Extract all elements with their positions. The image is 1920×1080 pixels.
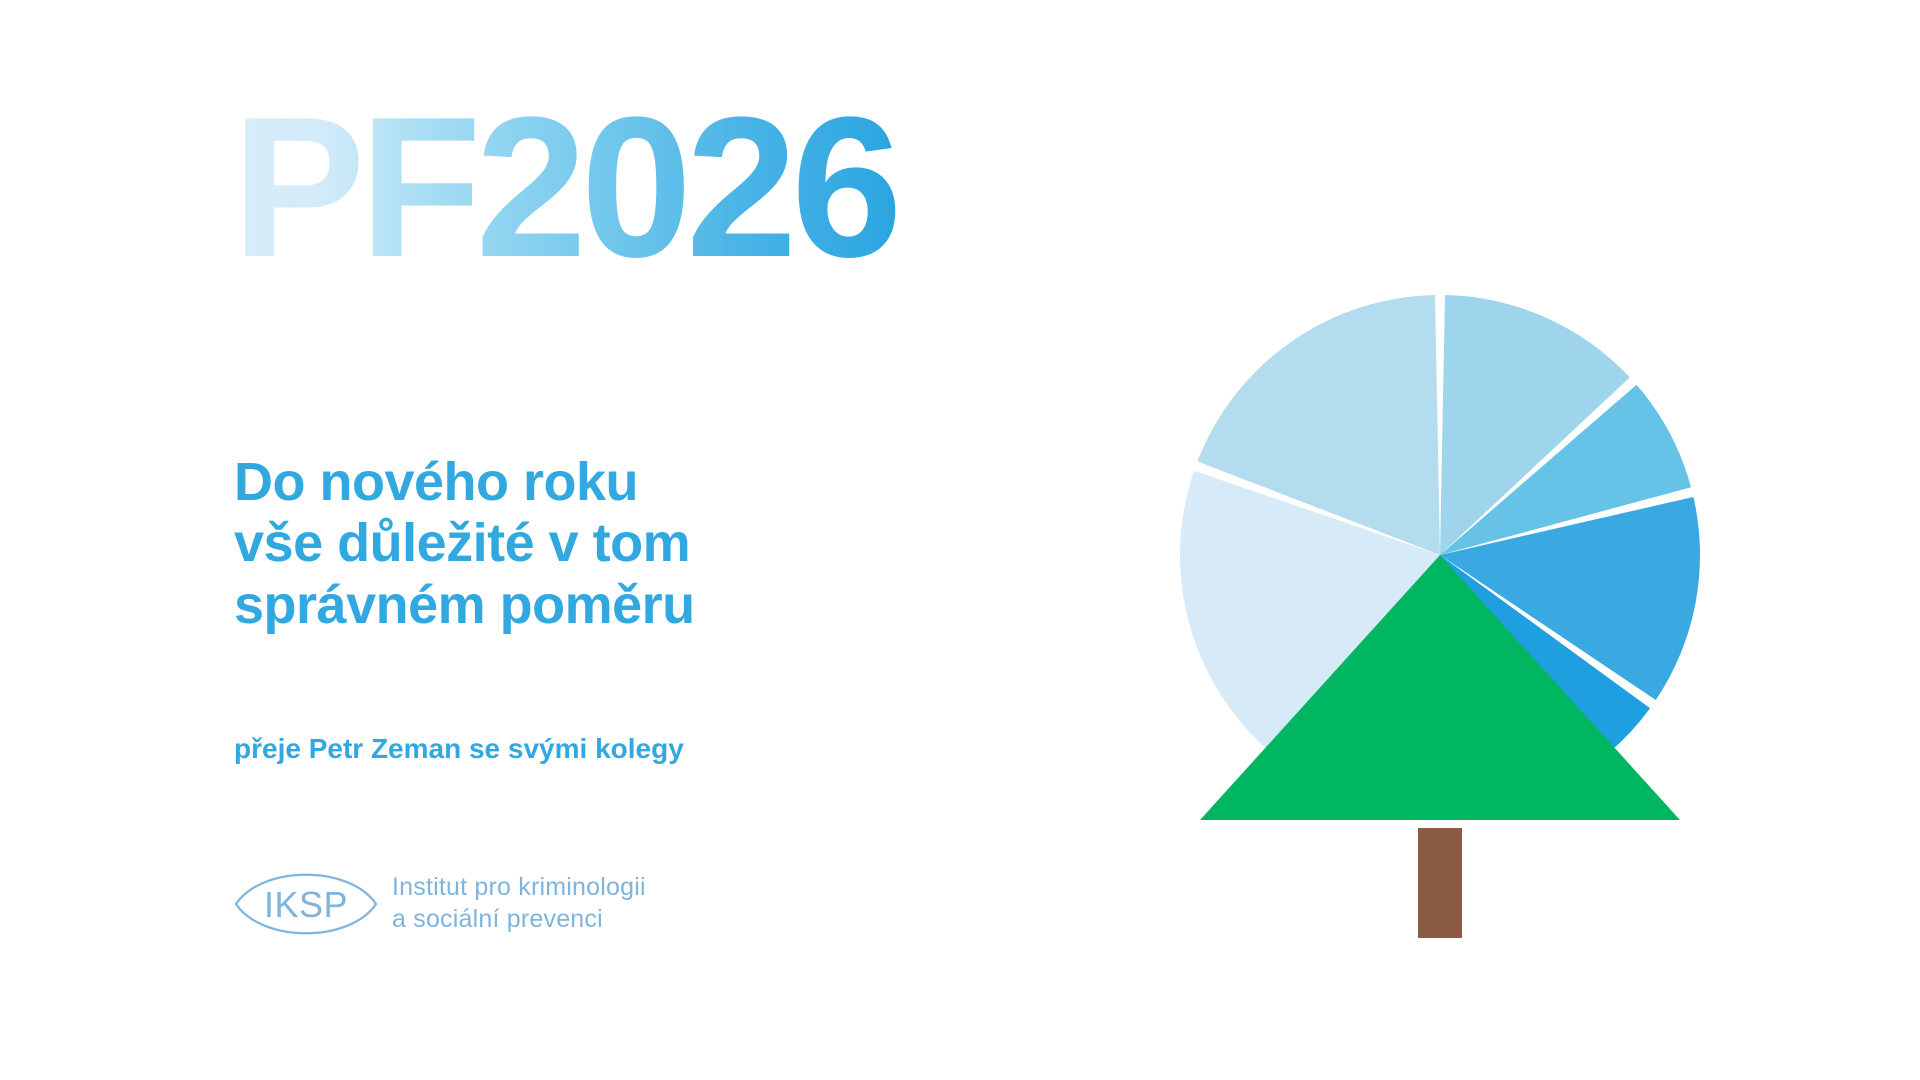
headline-line-3: správném poměru <box>234 575 695 636</box>
iksp-eye-mark: IKSP <box>232 855 380 953</box>
left-content-column: PF2026 Do nového roku vše důležité v tom… <box>232 0 1062 1080</box>
iksp-logo-line-1: Institut pro kriminologii <box>392 871 646 903</box>
tree-trunk-icon <box>1418 828 1462 938</box>
signature-text: přeje Petr Zeman se svými kolegy <box>234 735 684 763</box>
headline-line-1: Do nového roku <box>234 452 695 513</box>
headline-line-2: vše důležité v tom <box>234 513 695 574</box>
iksp-logo-text: Institut pro kriminologii a sociální pre… <box>392 871 646 935</box>
pie-chart-tree <box>1080 200 1800 990</box>
poster-canvas: PF2026 Do nového roku vše důležité v tom… <box>0 0 1920 1080</box>
iksp-logo-line-2: a sociální prevenci <box>392 903 646 935</box>
headline-block: Do nového roku vše důležité v tom správn… <box>234 452 695 636</box>
iksp-logo: IKSP Institut pro kriminologii a sociáln… <box>232 855 752 965</box>
page-title: PF2026 <box>232 88 897 288</box>
iksp-acronym-text: IKSP <box>264 884 348 925</box>
